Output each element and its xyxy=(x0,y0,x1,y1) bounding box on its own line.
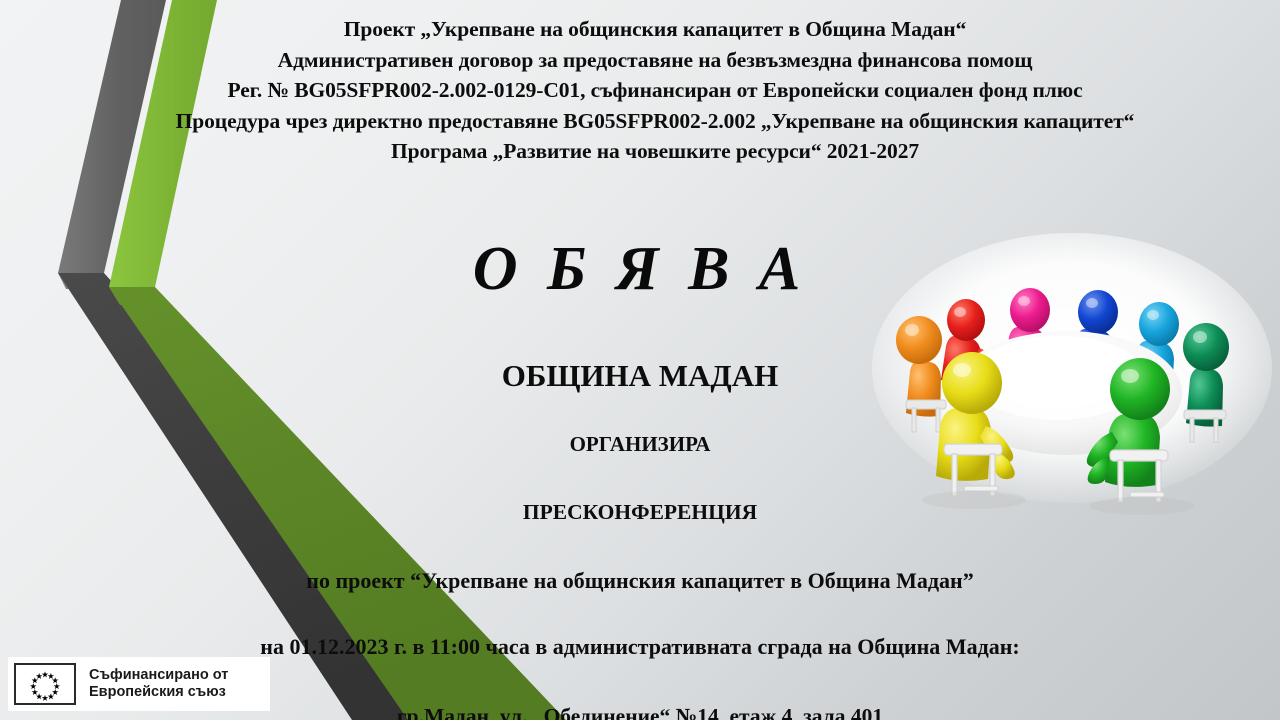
announcement-slide: Проект „Укрепване на общинския капацитет… xyxy=(0,0,1280,720)
announcement-body: ОБЩИНА МАДАН ОРГАНИЗИРА ПРЕСКОНФЕРЕНЦИЯ … xyxy=(140,360,1140,720)
eu-flag-icon xyxy=(14,663,76,705)
event-type: ПРЕСКОНФЕРЕНЦИЯ xyxy=(140,501,1140,523)
eu-cofunding-logo: Съфинансирано от Европейския съюз xyxy=(8,657,270,711)
header-line-1: Проект „Укрепване на общинския капацитет… xyxy=(95,14,1215,45)
organization-name: ОБЩИНА МАДАН xyxy=(140,360,1140,391)
project-reference: по проект “Укрепване на общинския капаци… xyxy=(140,570,1140,592)
chevron-gray-bevel xyxy=(58,273,112,289)
eu-logo-line-2: Европейския съюз xyxy=(89,684,228,702)
chevron-green-bevel xyxy=(109,287,166,305)
header-line-4: Процедура чрез директно предоставяне BG0… xyxy=(95,106,1215,137)
page-title: О Б Я В А xyxy=(300,238,980,300)
event-address: гр.Мадан, ул. „Обединение“ №14, етаж 4, … xyxy=(140,705,1140,720)
header-line-5: Програма „Развитие на човешките ресурси“… xyxy=(95,136,1215,167)
header-line-3: Рег. № BG05SFPR002-2.002-0129-C01, съфин… xyxy=(95,75,1215,106)
organizes-label: ОРГАНИЗИРА xyxy=(140,434,1140,455)
eu-logo-text: Съфинансирано от Европейския съюз xyxy=(89,667,228,702)
header-line-2: Административен договор за предоставяне … xyxy=(95,45,1215,76)
event-datetime: на 01.12.2023 г. в 11:00 часа в админист… xyxy=(140,636,1140,658)
eu-logo-line-1: Съфинансирано от xyxy=(89,667,228,685)
project-header: Проект „Укрепване на общинския капацитет… xyxy=(95,14,1215,167)
